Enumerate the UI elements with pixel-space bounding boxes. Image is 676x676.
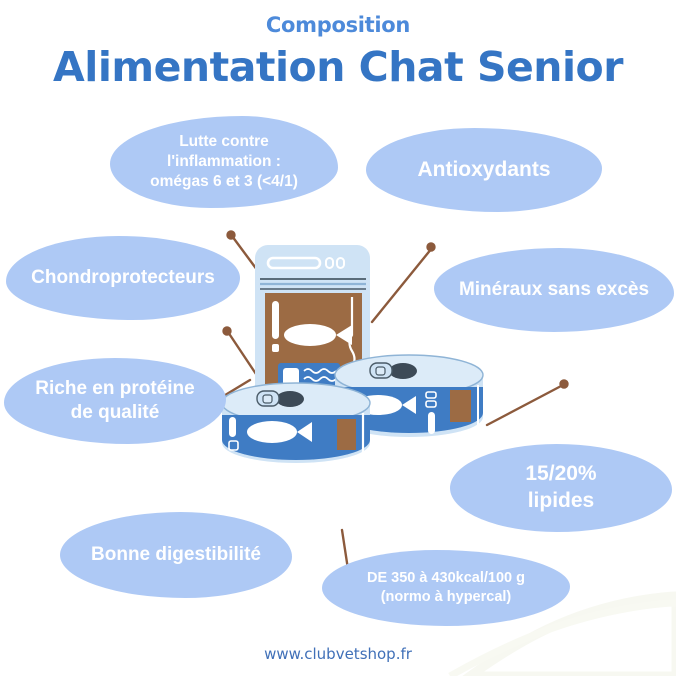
pull-tab-front xyxy=(257,391,304,407)
infographic-canvas: Composition Alimentation Chat Senior xyxy=(0,0,676,676)
bubble-digestibilite-label: Bonne digestibilité xyxy=(91,543,261,567)
connector-line-mineraux xyxy=(487,385,563,425)
bubble-antioxydants[interactable]: Antioxydants xyxy=(366,128,602,212)
connector-dot-mineraux xyxy=(560,380,568,388)
bubble-omega[interactable]: Lutte contre l'inflammation : omégas 6 e… xyxy=(110,116,338,208)
footer-url: www.clubvetshop.fr xyxy=(264,645,412,663)
bubble-omega-line-2: l'inflammation : xyxy=(167,153,281,170)
can-front-illustration xyxy=(222,383,370,463)
bubble-proteine-line-2: de qualité xyxy=(71,402,160,423)
bubble-lipides-text: 15/20% lipides xyxy=(525,461,596,515)
page-subtitle: Composition xyxy=(0,0,676,37)
bubble-proteine-text: Riche en protéine de qualité xyxy=(35,377,194,426)
footer: www.clubvetshop.fr xyxy=(0,645,676,663)
bubble-kcal-line-1: DE 350 à 430kcal/100 g xyxy=(367,570,525,586)
bubble-omega-text: Lutte contre l'inflammation : omégas 6 e… xyxy=(150,132,298,191)
bubble-mineraux[interactable]: Minéraux sans excès xyxy=(434,248,674,332)
bubble-lipides-line-2: lipides xyxy=(528,489,595,512)
page-title: Alimentation Chat Senior xyxy=(0,37,676,91)
bubble-kcal[interactable]: DE 350 à 430kcal/100 g (normo à hypercal… xyxy=(322,550,570,626)
bubble-lipides[interactable]: 15/20% lipides xyxy=(450,444,672,532)
bubble-proteine-line-1: Riche en protéine xyxy=(35,378,194,399)
bubble-kcal-text: DE 350 à 430kcal/100 g (normo à hypercal… xyxy=(367,569,525,606)
bubble-kcal-line-2: (normo à hypercal) xyxy=(381,589,512,605)
bubble-lipides-line-1: 15/20% xyxy=(525,462,596,485)
bubble-proteine[interactable]: Riche en protéine de qualité xyxy=(4,358,226,444)
bubble-chondroprotecteurs-label: Chondroprotecteurs xyxy=(31,266,215,290)
bubble-chondroprotecteurs[interactable]: Chondroprotecteurs xyxy=(6,236,240,320)
bubble-omega-line-3: omégas 6 et 3 (<4/1) xyxy=(150,173,298,190)
bubble-mineraux-label: Minéraux sans excès xyxy=(459,278,649,302)
bubble-digestibilite[interactable]: Bonne digestibilité xyxy=(60,512,292,598)
pull-tab-back xyxy=(370,363,417,379)
header: Composition Alimentation Chat Senior xyxy=(0,0,676,91)
bubble-omega-line-1: Lutte contre xyxy=(179,133,269,150)
bubble-antioxydants-label: Antioxydants xyxy=(417,157,550,184)
